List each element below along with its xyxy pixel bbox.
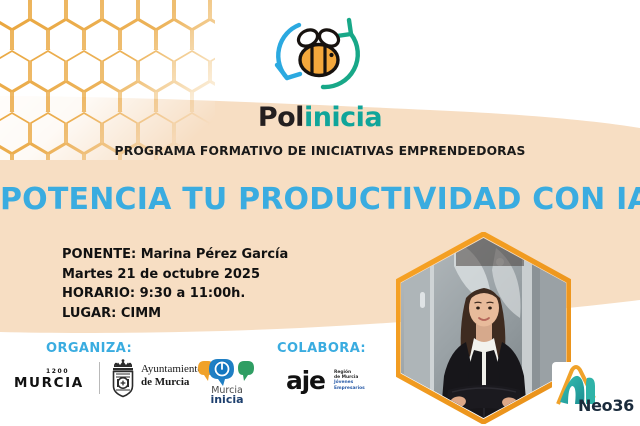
poster-root: Polinicia PROGRAMA FORMATIVO DE INICIATI… [0,0,640,426]
ayuntamiento-line-2: de Murcia [141,376,203,389]
aje-wordmark: aje [286,368,325,393]
brand-part-2: inicia [304,102,382,133]
murcia-1200-year: 1200 [46,368,69,375]
murcia-inicia-word-2: inicia [202,393,252,406]
power-bubbles-icon [196,357,256,387]
neo36-wordmark: Neo36 [578,396,634,415]
detail-date: Martes 21 de octubre 2025 [62,265,288,285]
detail-place: LUGAR: CIMM [62,304,288,324]
coat-of-arms-icon [108,358,138,398]
aje-sub-line-4: Empresarios [334,386,378,391]
brand-wordmark: Polinicia [0,104,640,131]
aje-logo: aje Región de Murcia Jóvenes Empresarios [286,368,378,394]
murcia-1200-wordmark: MURCIA [14,375,84,391]
detail-schedule: HORARIO: 9:30 a 11:00h. [62,284,288,304]
murcia-1200-logo: 1200 MURCIA [14,368,92,392]
brand-part-1: Pol [258,102,304,133]
page-title: POTENCIA TU PRODUCTIVIDAD CON IA [0,182,640,217]
detail-speaker: PONENTE: Marina Pérez García [62,245,288,265]
organiza-label: ORGANIZA: [46,341,132,356]
murcia-inicia-logo: Murcia inicia [196,357,256,405]
program-subtitle: PROGRAMA FORMATIVO DE INICIATIVAS EMPREN… [0,144,640,158]
speaker-portrait [396,232,571,424]
neo36-logo: Neo36 [552,362,636,424]
event-details: PONENTE: Marina Pérez García Martes 21 d… [62,245,288,323]
ayuntamiento-text: Ayuntamiento de Murcia [141,363,203,389]
colabora-label: COLABORA: [277,341,366,356]
bee-logo-icon [265,8,375,103]
aje-subtext: Región de Murcia Jóvenes Empresarios [334,370,378,391]
ayuntamiento-line-1: Ayuntamiento [141,363,203,376]
ayuntamiento-de-murcia-logo: Ayuntamiento de Murcia [108,358,194,398]
logo-divider [99,362,100,394]
